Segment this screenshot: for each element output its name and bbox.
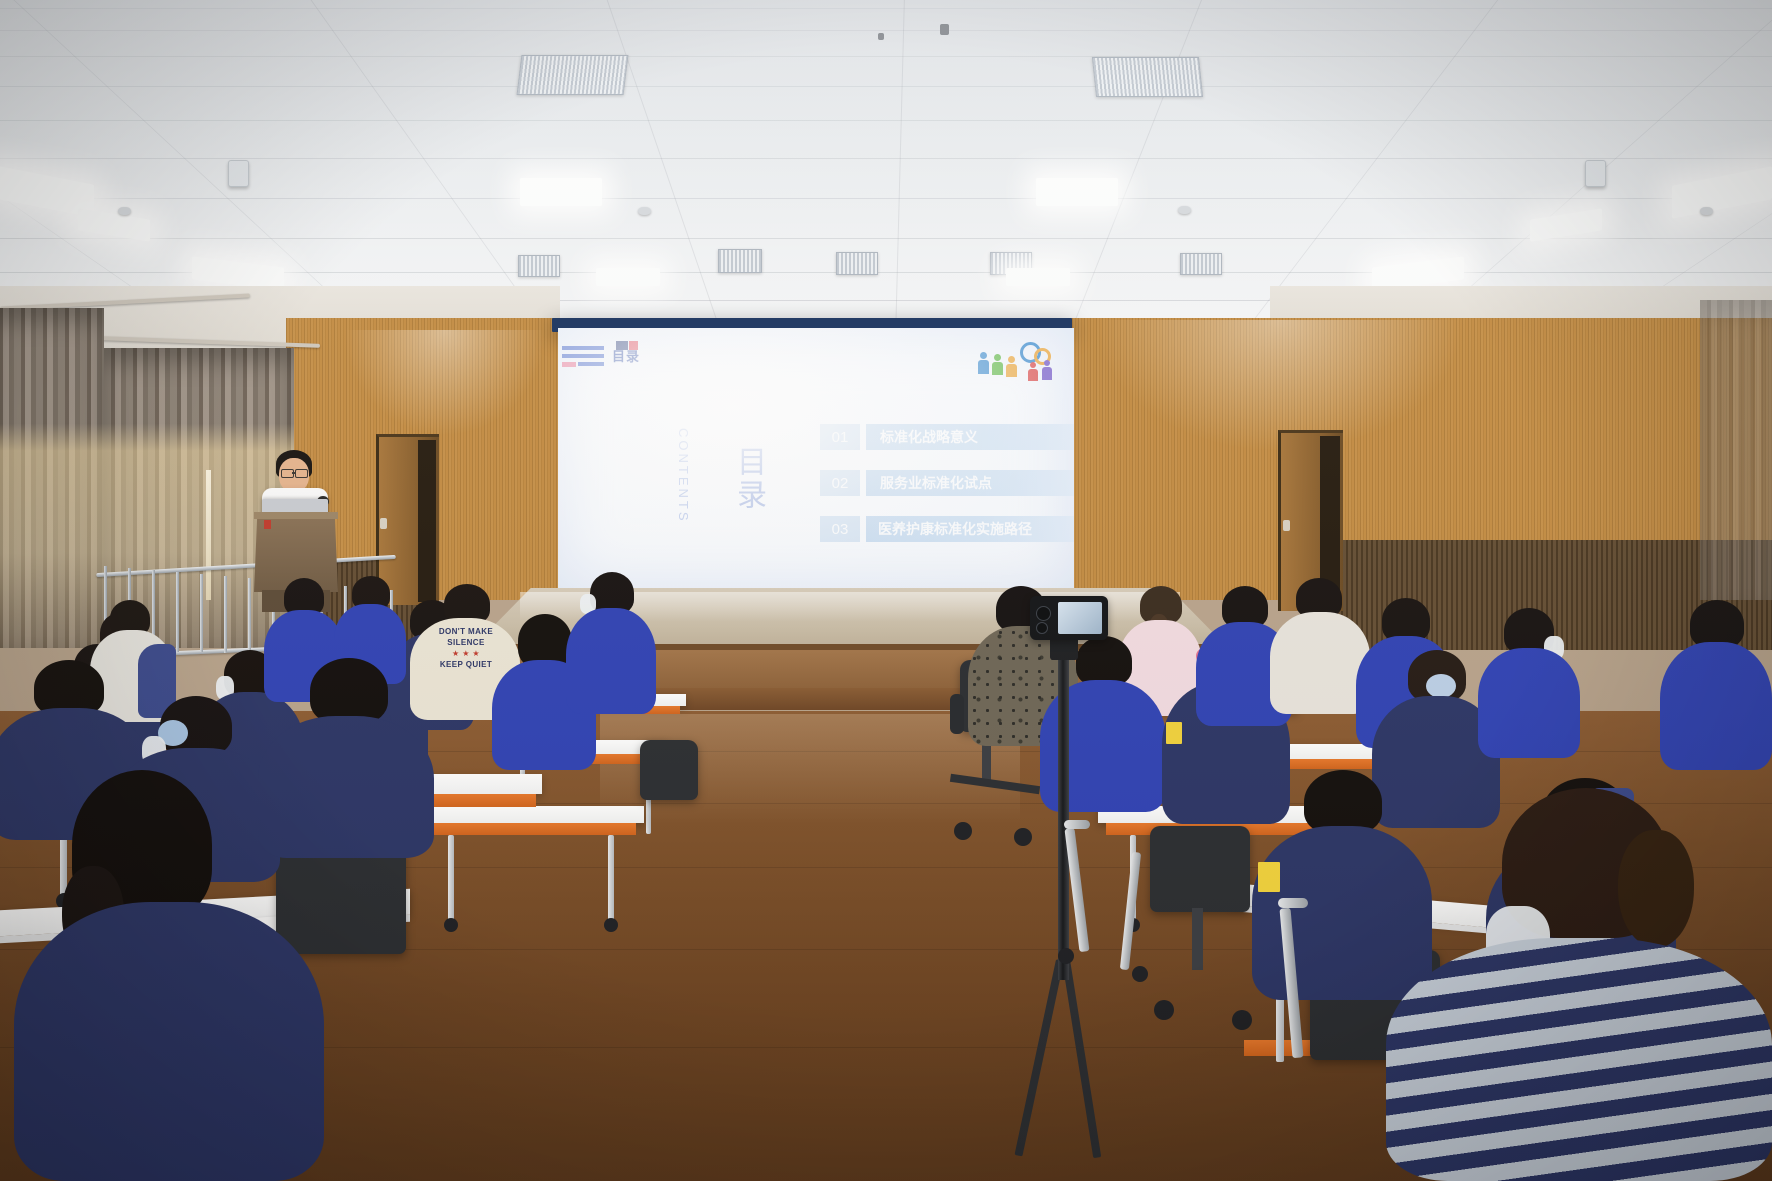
walker-foot (1132, 966, 1148, 982)
ceiling-light (520, 178, 602, 206)
chair[interactable] (640, 740, 698, 800)
armband (1258, 862, 1280, 892)
torso (1478, 648, 1580, 758)
tripod-pole[interactable] (1058, 650, 1069, 980)
toc-row[interactable]: 03 医养护康标准化实施路径 (820, 516, 1074, 542)
walker-foot (1058, 948, 1074, 964)
torso (14, 902, 324, 1181)
slide-logo: 目录 (558, 328, 678, 378)
contents-vertical-label: CONTENTS (676, 428, 691, 524)
logo-bar-pink (562, 362, 576, 367)
camera-lens-icon (1036, 622, 1048, 634)
door-knob[interactable] (380, 518, 387, 529)
person-icon-body (1042, 367, 1052, 380)
audience-member (1478, 608, 1580, 758)
sprinkler-head (878, 33, 884, 40)
torso (1270, 612, 1370, 714)
window-curtain (0, 308, 104, 648)
toc-number: 01 (820, 424, 860, 450)
door-opening (418, 440, 436, 602)
hvac-vent (718, 249, 762, 273)
smoke-detector (1700, 207, 1713, 215)
sprinkler-head (940, 24, 949, 35)
door-knob[interactable] (1283, 520, 1290, 531)
phone-screen (1058, 602, 1102, 634)
hvac-vent (518, 255, 560, 277)
hvac-vent (836, 252, 878, 275)
desk-caster (604, 918, 618, 932)
hair (1304, 770, 1382, 834)
hair (1690, 600, 1744, 648)
camera-lens-icon (1036, 606, 1051, 621)
person-icon-body (1028, 369, 1038, 381)
contents-vertical-cn: 目录 (726, 446, 770, 512)
ceiling-speaker (228, 160, 249, 187)
hair-clip (1426, 674, 1456, 698)
desk-skirt (422, 823, 636, 835)
person-icon (1044, 360, 1050, 366)
armband (1166, 722, 1182, 744)
desk (414, 806, 644, 823)
hvac-vent (517, 55, 629, 95)
podium-top (254, 512, 338, 519)
audience-member (1270, 578, 1370, 714)
presenter-glasses (295, 469, 308, 478)
logo-bar (578, 362, 604, 366)
mobility-walker-handle[interactable] (1278, 898, 1308, 908)
logo-bar (562, 354, 604, 358)
slide-decorative-icons (976, 340, 1062, 382)
person-icon-body (1006, 364, 1017, 377)
hair (310, 658, 388, 724)
smoke-detector (638, 207, 651, 215)
torso-striped (1386, 938, 1772, 1181)
presenter-glasses-bridge (292, 472, 295, 474)
person-icon (1008, 356, 1015, 363)
desk-caster (444, 918, 458, 932)
slide-logo-text: 目录 (612, 346, 640, 365)
person-icon-body (978, 360, 989, 374)
toc-label: 标准化战略意义 (866, 424, 1074, 450)
chair-arm (950, 694, 964, 734)
window-curtain-right (1700, 300, 1772, 600)
toc-number: 03 (820, 516, 860, 542)
desk-leg (608, 835, 614, 921)
torso (566, 608, 656, 714)
ceiling-speaker (1585, 160, 1606, 187)
toc-row[interactable]: 01 标准化战略意义 (820, 424, 1074, 450)
chair-caster (1014, 828, 1032, 846)
mobility-walker-handle[interactable] (1064, 820, 1090, 829)
audience-member-foreground (14, 770, 324, 1181)
toc-label: 医养护康标准化实施路径 (866, 516, 1074, 542)
chair-caster (954, 822, 972, 840)
smoke-detector (118, 207, 131, 215)
chair-caster (1232, 1010, 1252, 1030)
ponytail (1618, 830, 1694, 948)
classroom-photo: 目录 CONTENTS 目录 01 标准化战略意义 02 服务业标准化试点 03… (0, 0, 1772, 1181)
audience-member-striped (1386, 788, 1772, 1181)
audience-member (566, 572, 656, 714)
torso (1660, 642, 1772, 770)
toc-label: 服务业标准化试点 (866, 470, 1074, 496)
chair-caster (1154, 1000, 1174, 1020)
smoke-detector (1178, 206, 1191, 214)
hvac-vent (1092, 57, 1203, 97)
person-icon-body (992, 362, 1003, 375)
projection-screen: 目录 CONTENTS 目录 01 标准化战略意义 02 服务业标准化试点 03… (558, 328, 1074, 590)
hair (1076, 636, 1132, 686)
person-icon (994, 354, 1001, 361)
ceiling-light (1036, 178, 1118, 206)
logo-bar (562, 346, 604, 350)
hvac-vent (1180, 253, 1222, 275)
chair[interactable] (1150, 826, 1250, 912)
audience-member (1660, 600, 1772, 770)
ceiling-light (1006, 268, 1070, 286)
chair-post (1192, 908, 1203, 970)
person-icon (1030, 362, 1036, 368)
person-icon (980, 352, 987, 359)
ceiling-light (596, 268, 660, 286)
podium-marker (264, 520, 271, 529)
toc-row[interactable]: 02 服务业标准化试点 (820, 470, 1074, 496)
toc-number: 02 (820, 470, 860, 496)
desk-leg (448, 835, 454, 921)
